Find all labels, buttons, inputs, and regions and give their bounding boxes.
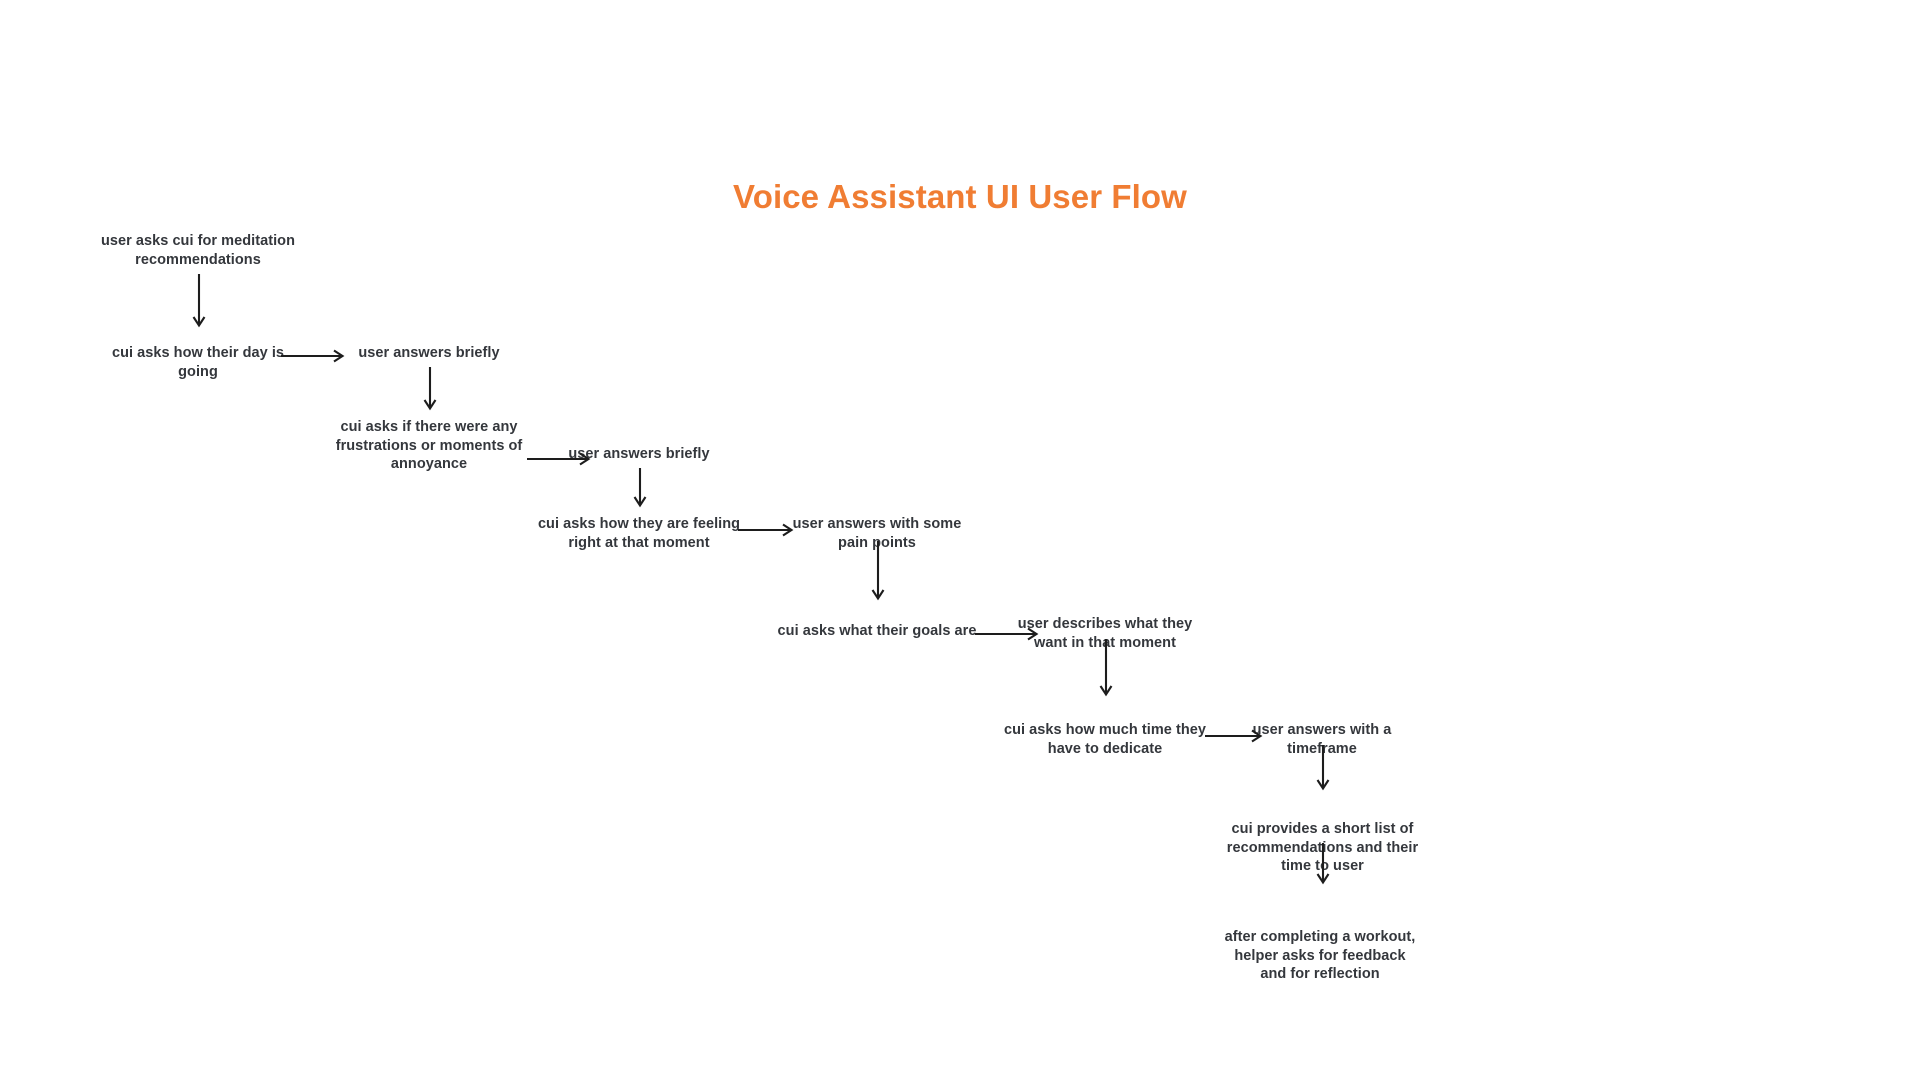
- arrow-right-icon: [281, 347, 349, 365]
- flow-node-label: cui asks how much time they have to dedi…: [1004, 722, 1206, 757]
- arrow-down-icon: [1097, 639, 1115, 701]
- arrow-right-icon: [527, 450, 595, 468]
- flow-node-n6[interactable]: cui asks how they are feeling right at t…: [534, 515, 744, 552]
- flow-node-n8[interactable]: cui asks what their goals are: [767, 622, 987, 641]
- arrow-right-icon: [738, 521, 798, 539]
- page-title: Voice Assistant UI User Flow: [0, 178, 1920, 216]
- flow-node-label: cui asks if there were any frustrations …: [336, 419, 523, 472]
- arrow-down-icon: [190, 274, 208, 332]
- flow-node-label: cui asks what their goals are: [778, 623, 977, 639]
- flow-node-n10[interactable]: cui asks how much time they have to dedi…: [995, 721, 1215, 758]
- flowchart-canvas: Voice Assistant UI User Flow user asks c…: [0, 0, 1920, 1080]
- arrow-down-icon: [1314, 843, 1332, 889]
- flow-node-n13[interactable]: after completing a workout, helper asks …: [1220, 928, 1420, 984]
- flow-node-n2[interactable]: cui asks how their day is going: [98, 344, 298, 381]
- flow-node-label: cui asks how they are feeling right at t…: [538, 516, 740, 551]
- arrow-down-icon: [421, 367, 439, 415]
- flow-node-label: user asks cui for meditation recommendat…: [101, 233, 295, 268]
- flow-node-label: after completing a workout, helper asks …: [1225, 929, 1416, 982]
- flow-node-n3[interactable]: user answers briefly: [329, 344, 529, 363]
- arrow-down-icon: [631, 468, 649, 512]
- flow-node-label: cui asks how their day is going: [112, 345, 284, 380]
- arrow-right-icon: [975, 625, 1043, 643]
- arrow-down-icon: [869, 541, 887, 605]
- arrow-down-icon: [1314, 745, 1332, 795]
- arrow-right-icon: [1205, 727, 1267, 745]
- flow-node-label: user answers briefly: [358, 345, 499, 361]
- flow-node-n4[interactable]: cui asks if there were any frustrations …: [324, 418, 534, 474]
- flow-node-n1[interactable]: user asks cui for meditation recommendat…: [78, 232, 318, 269]
